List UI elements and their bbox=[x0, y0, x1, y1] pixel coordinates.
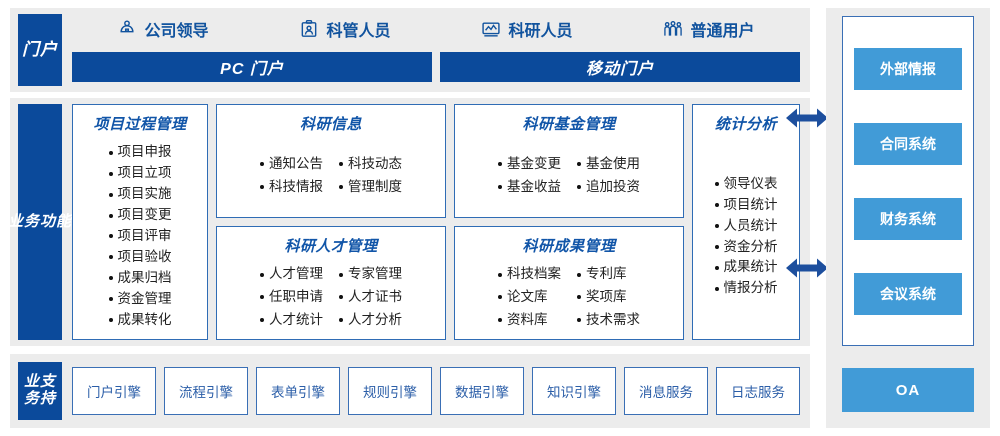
portal-role-label: 普通用户 bbox=[690, 17, 754, 41]
function-column-fund-achievement: 科研基金管理 基金变更 基金使用 基金收益 追加投资 科研成果管理 科技档案 专… bbox=[454, 104, 684, 340]
list-item[interactable]: 项目统计 bbox=[715, 195, 778, 216]
engine-form[interactable]: 表单引擎 bbox=[256, 367, 340, 415]
engine-workflow[interactable]: 流程引擎 bbox=[164, 367, 248, 415]
support-label-line-1: 业务 bbox=[24, 374, 40, 408]
list-item[interactable]: 人员统计 bbox=[715, 216, 778, 237]
list-item[interactable]: 科技档案 bbox=[498, 264, 561, 285]
portal-section-label: 门 户 bbox=[18, 14, 62, 86]
list-item[interactable]: 通知公告 bbox=[260, 154, 323, 175]
card-title: 科研成果管理 bbox=[461, 235, 677, 256]
engine-rule[interactable]: 规则引擎 bbox=[348, 367, 432, 415]
card-statistical-analysis[interactable]: 统计分析 领导仪表 项目统计 人员统计 资金分析 成果统计 情报分析 bbox=[692, 104, 800, 340]
list-item[interactable]: 情报分析 bbox=[715, 278, 778, 299]
list-item[interactable]: 项目立项 bbox=[109, 163, 172, 184]
list-item[interactable]: 资金管理 bbox=[109, 289, 172, 310]
service-log[interactable]: 日志服务 bbox=[716, 367, 800, 415]
portal-role-label: 公司领导 bbox=[144, 17, 208, 41]
architecture-diagram: 门 户 公司领导 科管人员 bbox=[0, 0, 1000, 436]
card-item-list: 领导仪表 项目统计 人员统计 资金分析 成果统计 情报分析 bbox=[699, 140, 793, 333]
card-research-achievement-management[interactable]: 科研成果管理 科技档案 专利库 论文库 奖项库 资料库 技术需求 bbox=[454, 226, 684, 340]
list-item[interactable]: 项目验收 bbox=[109, 247, 172, 268]
list-item[interactable]: 人才管理 bbox=[260, 264, 323, 285]
portal-bars: PC 门户 移动门户 bbox=[72, 52, 800, 82]
card-research-fund-management[interactable]: 科研基金管理 基金变更 基金使用 基金收益 追加投资 bbox=[454, 104, 684, 218]
list-item[interactable]: 成果统计 bbox=[715, 257, 778, 278]
card-item-list: 通知公告 科技动态 科技情报 管理制度 bbox=[223, 140, 439, 211]
list-item[interactable]: 项目实施 bbox=[109, 184, 172, 205]
portal-role-list: 公司领导 科管人员 科研人员 bbox=[72, 12, 800, 46]
external-system-meeting[interactable]: 会议系统 bbox=[854, 273, 962, 315]
list-item[interactable]: 管理制度 bbox=[339, 177, 402, 198]
list-item[interactable]: 项目评审 bbox=[109, 226, 172, 247]
card-item-list: 项目申报 项目立项 项目实施 项目变更 项目评审 项目验收 成果归档 资金管理 … bbox=[79, 140, 201, 333]
portal-bar-mobile[interactable]: 移动门户 bbox=[440, 52, 800, 82]
card-title: 统计分析 bbox=[699, 113, 793, 134]
func-label-char-3: 功 bbox=[40, 214, 56, 231]
card-item-list: 基金变更 基金使用 基金收益 追加投资 bbox=[461, 140, 677, 211]
list-item[interactable]: 追加投资 bbox=[577, 177, 640, 198]
card-research-talent-management[interactable]: 科研人才管理 人才管理 专家管理 任职申请 人才证书 人才统计 人才分析 bbox=[216, 226, 446, 340]
card-item-list: 人才管理 专家管理 任职申请 人才证书 人才统计 人才分析 bbox=[223, 262, 439, 333]
list-item[interactable]: 专利库 bbox=[577, 264, 640, 285]
card-title: 科研基金管理 bbox=[461, 113, 677, 134]
portal-bar-pc[interactable]: PC 门户 bbox=[72, 52, 432, 82]
list-item[interactable]: 项目申报 bbox=[109, 142, 172, 163]
portal-role-label: 科管人员 bbox=[326, 17, 390, 41]
portal-role-general-user[interactable]: 普通用户 bbox=[618, 17, 800, 41]
list-item[interactable]: 人才分析 bbox=[339, 310, 402, 331]
list-item[interactable]: 成果归档 bbox=[109, 268, 172, 289]
bidirectional-arrow-bottom-icon bbox=[786, 257, 828, 279]
external-system-finance[interactable]: 财务系统 bbox=[854, 198, 962, 240]
func-label-char-2: 务 bbox=[24, 214, 40, 231]
business-support-section-label: 业务 支持 bbox=[18, 362, 62, 420]
list-item[interactable]: 基金变更 bbox=[498, 154, 561, 175]
list-item[interactable]: 任职申请 bbox=[260, 287, 323, 308]
engine-knowledge[interactable]: 知识引擎 bbox=[532, 367, 616, 415]
func-label-char-1: 业 bbox=[8, 214, 24, 231]
list-item[interactable]: 科技动态 bbox=[339, 154, 402, 175]
func-label-char-4: 能 bbox=[56, 214, 72, 231]
list-item[interactable]: 奖项库 bbox=[577, 287, 640, 308]
executive-icon bbox=[117, 19, 137, 39]
card-title: 科研人才管理 bbox=[223, 235, 439, 256]
list-item[interactable]: 基金收益 bbox=[498, 177, 561, 198]
chart-monitor-icon bbox=[481, 19, 501, 39]
list-item[interactable]: 成果转化 bbox=[109, 310, 172, 331]
list-item[interactable]: 科技情报 bbox=[260, 177, 323, 198]
business-function-cards: 项目过程管理 项目申报 项目立项 项目实施 项目变更 项目评审 项目验收 成果归… bbox=[72, 104, 800, 340]
list-item[interactable]: 基金使用 bbox=[577, 154, 640, 175]
card-project-process-management[interactable]: 项目过程管理 项目申报 项目立项 项目实施 项目变更 项目评审 项目验收 成果归… bbox=[72, 104, 208, 340]
list-item[interactable]: 专家管理 bbox=[339, 264, 402, 285]
list-item[interactable]: 项目变更 bbox=[109, 205, 172, 226]
external-system-intelligence[interactable]: 外部情报 bbox=[854, 48, 962, 90]
business-support-engine-list: 门户引擎 流程引擎 表单引擎 规则引擎 数据引擎 知识引擎 消息服务 日志服务 bbox=[72, 367, 800, 415]
business-function-section-label: 业 务 功 能 bbox=[18, 104, 62, 340]
card-title: 科研信息 bbox=[223, 113, 439, 134]
card-title: 项目过程管理 bbox=[79, 113, 201, 134]
engine-data[interactable]: 数据引擎 bbox=[440, 367, 524, 415]
portal-role-executive[interactable]: 公司领导 bbox=[72, 17, 254, 41]
list-item[interactable]: 论文库 bbox=[498, 287, 561, 308]
list-item[interactable]: 资金分析 bbox=[715, 237, 778, 258]
list-item[interactable]: 人才证书 bbox=[339, 287, 402, 308]
service-message[interactable]: 消息服务 bbox=[624, 367, 708, 415]
function-column-info-talent: 科研信息 通知公告 科技动态 科技情报 管理制度 科研人才管理 人才管理 专家管… bbox=[216, 104, 446, 340]
external-system-oa[interactable]: OA bbox=[842, 368, 974, 412]
group-users-icon bbox=[663, 19, 683, 39]
function-column-statistics: 统计分析 领导仪表 项目统计 人员统计 资金分析 成果统计 情报分析 bbox=[692, 104, 800, 340]
function-column-process: 项目过程管理 项目申报 项目立项 项目实施 项目变更 项目评审 项目验收 成果归… bbox=[72, 104, 208, 340]
card-item-list: 科技档案 专利库 论文库 奖项库 资料库 技术需求 bbox=[461, 262, 677, 333]
portal-role-researcher[interactable]: 科研人员 bbox=[436, 17, 618, 41]
portal-role-label: 科研人员 bbox=[508, 17, 572, 41]
portal-label-char-1: 门 bbox=[22, 40, 40, 59]
support-label-line-2: 支持 bbox=[40, 374, 56, 408]
external-system-box: 外部情报 合同系统 财务系统 会议系统 bbox=[842, 16, 974, 346]
id-badge-icon bbox=[299, 19, 319, 39]
bidirectional-arrow-top-icon bbox=[786, 107, 828, 129]
card-research-information[interactable]: 科研信息 通知公告 科技动态 科技情报 管理制度 bbox=[216, 104, 446, 218]
list-item[interactable]: 资料库 bbox=[498, 310, 561, 331]
portal-role-admin-staff[interactable]: 科管人员 bbox=[254, 17, 436, 41]
list-item[interactable]: 人才统计 bbox=[260, 310, 323, 331]
external-system-contract[interactable]: 合同系统 bbox=[854, 123, 962, 165]
engine-portal[interactable]: 门户引擎 bbox=[72, 367, 156, 415]
list-item[interactable]: 技术需求 bbox=[577, 310, 640, 331]
list-item[interactable]: 领导仪表 bbox=[715, 174, 778, 195]
portal-label-char-2: 户 bbox=[40, 40, 58, 59]
